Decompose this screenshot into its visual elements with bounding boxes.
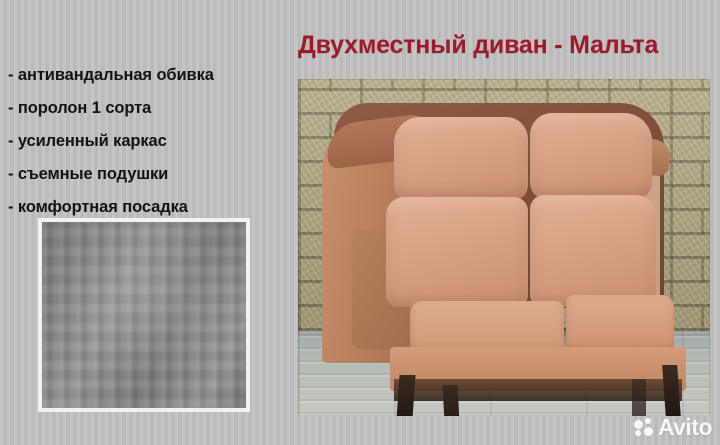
photo-border [298, 79, 710, 416]
list-item: - поролон 1 сорта [8, 92, 308, 125]
avito-watermark-label: Avito [658, 416, 712, 439]
feature-list: - антивандальная обивка - поролон 1 сорт… [8, 59, 308, 224]
fabric-shading-overlay [42, 222, 246, 408]
avito-logo-icon [634, 418, 654, 438]
product-photo [298, 79, 710, 416]
list-item: - съемные подушки [8, 158, 308, 191]
list-item: - антивандальная обивка [8, 59, 308, 92]
list-item: - комфортная посадка [8, 191, 308, 224]
fabric-swatch-frame [38, 218, 250, 412]
avito-watermark: Avito [634, 416, 712, 439]
advertisement-canvas: Двухместный диван - Мальта - антивандаль… [0, 0, 720, 445]
page-title: Двухместный диван - Мальта [298, 31, 710, 60]
list-item: - усиленный каркас [8, 125, 308, 158]
fabric-swatch-image [42, 222, 246, 408]
